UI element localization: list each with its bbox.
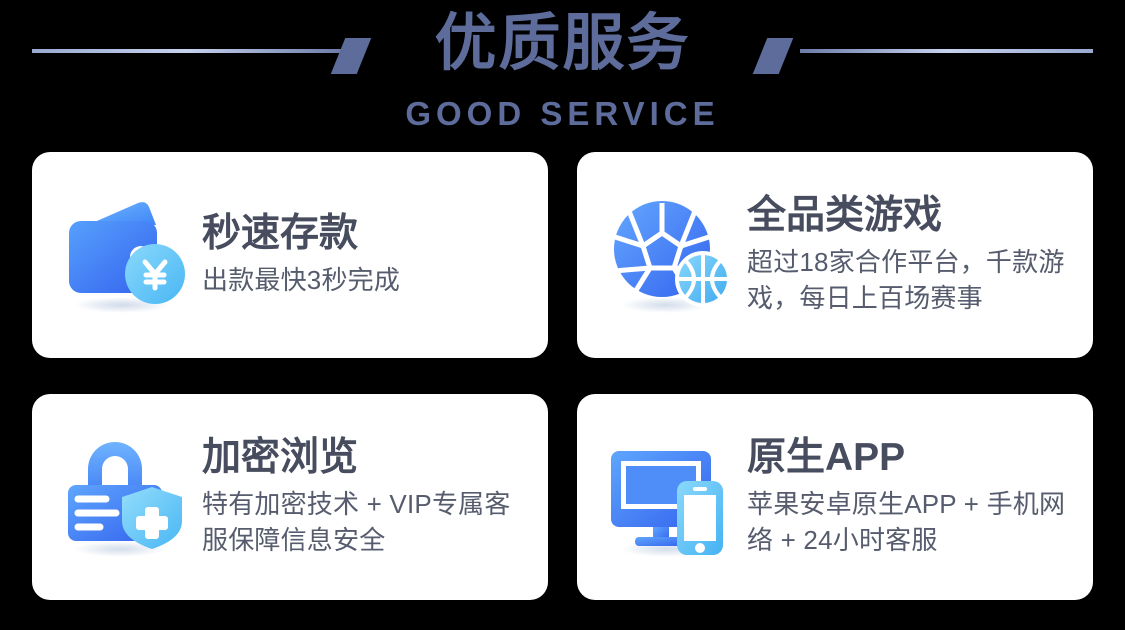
page-title: 优质服务 [0, 8, 1125, 80]
good-service-panel: 优质服务 GOOD SERVICE [0, 0, 1125, 630]
feature-text-block: 全品类游戏 超过18家合作平台，千款游戏，每日上百场赛事 [747, 194, 1075, 316]
section-header: 优质服务 GOOD SERVICE [0, 0, 1125, 146]
wallet-yen-icon [60, 189, 192, 321]
feature-text-block: 秒速存款 出款最快3秒完成 [202, 212, 530, 298]
soccer-basketball-icon [605, 189, 737, 321]
feature-title: 全品类游戏 [747, 194, 1075, 238]
feature-card-grid: 秒速存款 出款最快3秒完成 [32, 152, 1093, 600]
feature-card-deposit[interactable]: 秒速存款 出款最快3秒完成 [32, 152, 548, 358]
feature-card-native-app[interactable]: 原生APP 苹果安卓原生APP + 手机网络 + 24小时客服 [577, 394, 1093, 600]
feature-description: 苹果安卓原生APP + 手机网络 + 24小时客服 [747, 486, 1075, 558]
feature-card-games[interactable]: 全品类游戏 超过18家合作平台，千款游戏，每日上百场赛事 [577, 152, 1093, 358]
feature-description: 特有加密技术 + VIP专属客服保障信息安全 [202, 486, 530, 558]
feature-description: 超过18家合作平台，千款游戏，每日上百场赛事 [747, 244, 1075, 316]
feature-title: 原生APP [747, 436, 1075, 480]
feature-text-block: 加密浏览 特有加密技术 + VIP专属客服保障信息安全 [202, 436, 530, 558]
lock-shield-icon [60, 431, 192, 563]
feature-title: 秒速存款 [202, 212, 530, 256]
page-subtitle: GOOD SERVICE [0, 96, 1125, 132]
feature-text-block: 原生APP 苹果安卓原生APP + 手机网络 + 24小时客服 [747, 436, 1075, 558]
feature-card-encryption[interactable]: 加密浏览 特有加密技术 + VIP专属客服保障信息安全 [32, 394, 548, 600]
feature-description: 出款最快3秒完成 [202, 262, 530, 298]
feature-title: 加密浏览 [202, 436, 530, 480]
monitor-phone-icon [605, 431, 737, 563]
